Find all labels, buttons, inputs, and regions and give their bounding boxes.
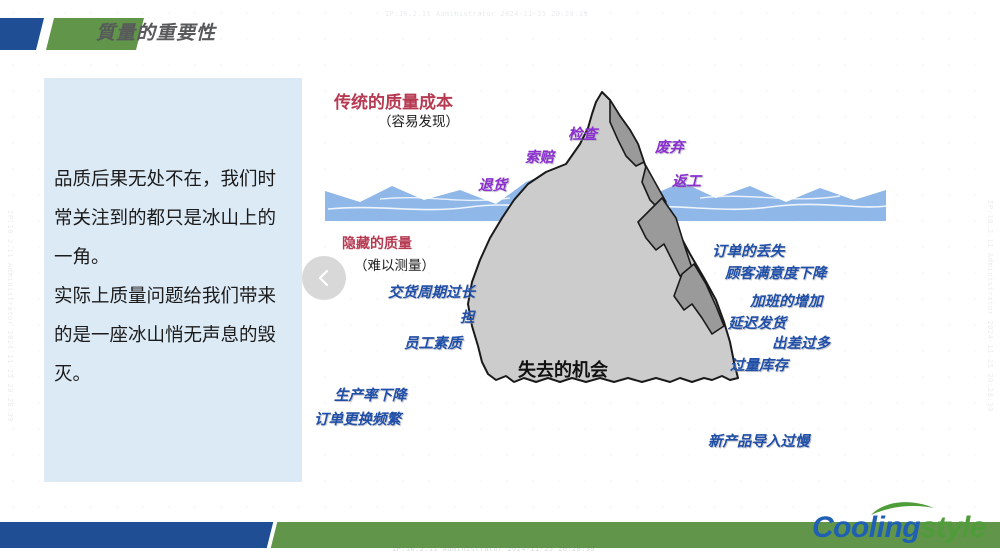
hidden-label-productivity-drop: 生产率下降 (334, 384, 407, 405)
iceberg-center-label: 失去的机会 (518, 356, 608, 382)
presentation-slide: 質量的重要性 品质后果无处不在，我们时 常关注到的都只是冰山上的 一角。 实际上… (0, 0, 1000, 557)
description-line: 灭。 (54, 355, 284, 394)
hidden-label-customer-satisfaction-drop: 顾客满意度下降 (725, 262, 827, 283)
watermark-right: IP:10.2.11 Administrator 2024-11-25 20:2… (986, 200, 994, 412)
footer-blue-accent (0, 522, 273, 548)
hidden-label-frequent-order-changes: 订单更换频繁 (314, 408, 401, 429)
description-line: 一角。 (54, 238, 284, 277)
hidden-label-slow-npi: 新产品导入过慢 (708, 430, 810, 451)
description-panel: 品质后果无处不在，我们时 常关注到的都只是冰山上的 一角。 实际上质量问题给我们… (44, 78, 302, 482)
hidden-label-burden: 担 (460, 306, 475, 327)
description-line: 常关注到的都只是冰山上的 (54, 199, 284, 238)
hidden-label-excess-travel: 出差过多 (772, 332, 830, 353)
hidden-label-lost-orders: 订单的丢失 (712, 240, 785, 261)
cost-label-returns: 退货 (478, 174, 507, 195)
traditional-cost-subheading: （容易发现） (378, 110, 459, 130)
iceberg-diagram: 传统的质量成本 （容易发现） 隐藏的质量 （难以测量） 检查 索赔 废弃 退货 … (320, 78, 890, 478)
description-line: 的是一座冰山悄无声息的毁 (54, 316, 284, 355)
cost-label-rework: 返工 (672, 170, 701, 191)
logo-swoosh-icon (870, 498, 936, 518)
watermark-left: IP:10.2.11 Administrator 2024-11-25 20:2… (6, 210, 14, 422)
cost-label-claims: 索赔 (525, 146, 554, 167)
hidden-label-more-overtime: 加班的增加 (750, 290, 823, 311)
hidden-cost-subheading: （难以测量） (354, 254, 435, 274)
description-line: 品质后果无处不在，我们时 (54, 160, 284, 199)
description-line: 实际上质量问题给我们带来 (54, 277, 284, 316)
hidden-label-delayed-shipment: 延迟发货 (728, 312, 786, 333)
iceberg-body (468, 92, 738, 382)
hidden-cost-heading: 隐藏的质量 (342, 233, 412, 253)
hidden-label-long-lead-time: 交货周期过长 (388, 281, 475, 302)
hidden-label-excess-inventory: 过量库存 (730, 354, 788, 375)
company-logo: Cooling style (812, 511, 986, 545)
cost-label-scrap: 废弃 (655, 136, 684, 157)
hidden-label-employee-quality: 员工素质 (404, 332, 462, 353)
cost-label-inspection: 检查 (568, 123, 597, 144)
watermark-top: IP:10.2.11 Administrator 2024-11-25 20:2… (385, 10, 588, 18)
header-blue-accent (0, 18, 44, 50)
page-title: 質量的重要性 (96, 18, 216, 50)
